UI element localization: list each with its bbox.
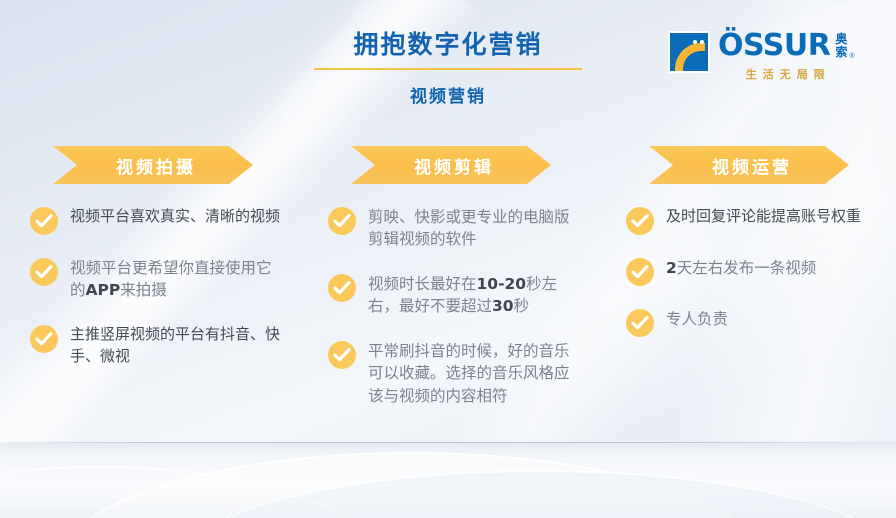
check-circle-icon (30, 207, 58, 235)
bullet-text-emphasis: APP (86, 281, 121, 299)
bullet-text-emphasis: 2 (666, 259, 677, 277)
section-banner-label: 视频运营 (706, 153, 792, 178)
bullet-text-segment: 来拍摄 (120, 281, 167, 299)
bullet-text: 平常刷抖音的时候，好的音乐可以收藏。选择的音乐风格应该与视频的内容相符 (368, 340, 582, 407)
check-circle-icon (30, 258, 58, 286)
check-circle-icon (626, 207, 654, 235)
bullet-item: 视频平台更希望你直接使用它的APP来拍摄 (30, 257, 298, 302)
presentation-slide: 拥抱数字化营销 视频营销 ÖSSUR 奥 索 ® 生活无局限 (0, 0, 896, 518)
title-underline (314, 68, 582, 70)
bullet-item: 2天左右发布一条视频 (626, 257, 894, 286)
background-horizon-line (0, 442, 896, 443)
bullet-text: 专人负责 (666, 308, 894, 330)
bullet-list: 剪映、快影或更专业的电脑版剪辑视频的软件视频时长最好在10-20秒左右，最好不要… (306, 206, 596, 407)
section-banner: 视频剪辑 (351, 146, 551, 184)
bullet-item: 专人负责 (626, 308, 894, 337)
check-circle-icon (328, 341, 356, 369)
logo-dot-icon (693, 40, 697, 44)
logo-wordmark-group: ÖSSUR 奥 索 ® 生活无局限 (718, 31, 855, 82)
check-icon (35, 331, 53, 347)
bullet-item: 平常刷抖音的时候，好的音乐可以收藏。选择的音乐风格应该与视频的内容相符 (328, 340, 596, 407)
check-icon (333, 280, 351, 296)
background-floor (0, 443, 896, 518)
bullet-item: 及时回复评论能提高账号权重 (626, 206, 894, 235)
column-video-shooting: 视频拍摄 视频平台喜欢真实、清晰的视频视频平台更希望你直接使用它的APP来拍摄主… (8, 146, 298, 429)
logo-hook-shape (675, 43, 705, 73)
logo-wordmark-row: ÖSSUR 奥 索 ® (718, 31, 855, 61)
logo-dot-icon (700, 40, 704, 44)
check-circle-icon (626, 309, 654, 337)
section-banner-label: 视频剪辑 (408, 153, 494, 178)
check-icon (333, 347, 351, 363)
bullet-text: 视频时长最好在10-20秒左右，最好不要超过30秒 (368, 273, 582, 318)
bullet-text: 视频平台更希望你直接使用它的APP来拍摄 (70, 257, 284, 302)
column-video-editing: 视频剪辑 剪映、快影或更专业的电脑版剪辑视频的软件视频时长最好在10-20秒左右… (306, 146, 596, 429)
bullet-item: 视频时长最好在10-20秒左右，最好不要超过30秒 (328, 273, 596, 318)
bullet-item: 视频平台喜欢真实、清晰的视频 (30, 206, 298, 235)
bullet-text: 2天左右发布一条视频 (666, 257, 894, 279)
page-subtitle: 视频营销 (0, 82, 896, 107)
ossur-logo-icon (668, 31, 710, 73)
bullet-text: 及时回复评论能提高账号权重 (666, 206, 894, 228)
check-circle-icon (328, 207, 356, 235)
logo-chinese-char-2: 索 (835, 46, 847, 59)
check-circle-icon (30, 325, 58, 353)
logo-chinese-name: 奥 索 (835, 33, 847, 58)
check-icon (631, 213, 649, 229)
slide-header: 拥抱数字化营销 视频营销 ÖSSUR 奥 索 ® 生活无局限 (0, 0, 896, 125)
check-circle-icon (626, 258, 654, 286)
bullet-text: 剪映、快影或更专业的电脑版剪辑视频的软件 (368, 206, 582, 251)
check-icon (333, 213, 351, 229)
check-circle-icon (328, 274, 356, 302)
bullet-text: 主推竖屏视频的平台有抖音、快手、微视 (70, 324, 284, 368)
logo-wordmark: ÖSSUR (718, 31, 830, 61)
bullet-text-segment: 秒 (514, 297, 530, 315)
registered-mark: ® (849, 53, 854, 60)
bullet-text-emphasis: 10-20 (477, 275, 527, 293)
bullet-text-segment: 视频时长最好在 (368, 275, 477, 293)
bullet-text-emphasis: 30 (492, 297, 514, 315)
bullet-item: 剪映、快影或更专业的电脑版剪辑视频的软件 (328, 206, 596, 251)
section-banner-label: 视频拍摄 (110, 153, 196, 178)
bullet-list: 及时回复评论能提高账号权重2天左右发布一条视频专人负责 (604, 206, 894, 337)
bullet-text: 视频平台喜欢真实、清晰的视频 (70, 206, 284, 228)
bullet-item: 主推竖屏视频的平台有抖音、快手、微视 (30, 324, 298, 368)
bullet-list: 视频平台喜欢真实、清晰的视频视频平台更希望你直接使用它的APP来拍摄主推竖屏视频… (8, 206, 298, 367)
check-icon (631, 264, 649, 280)
content-columns: 视频拍摄 视频平台喜欢真实、清晰的视频视频平台更希望你直接使用它的APP来拍摄主… (0, 146, 896, 429)
section-banner: 视频运营 (649, 146, 849, 184)
bullet-text-segment: 天左右发布一条视频 (677, 259, 817, 277)
check-icon (35, 264, 53, 280)
column-video-operations: 视频运营 及时回复评论能提高账号权重2天左右发布一条视频专人负责 (604, 146, 894, 429)
check-icon (631, 315, 649, 331)
brand-logo: ÖSSUR 奥 索 ® 生活无局限 (668, 31, 855, 82)
logo-tagline: 生活无局限 (718, 66, 855, 82)
section-banner: 视频拍摄 (53, 146, 253, 184)
check-icon (35, 213, 53, 229)
